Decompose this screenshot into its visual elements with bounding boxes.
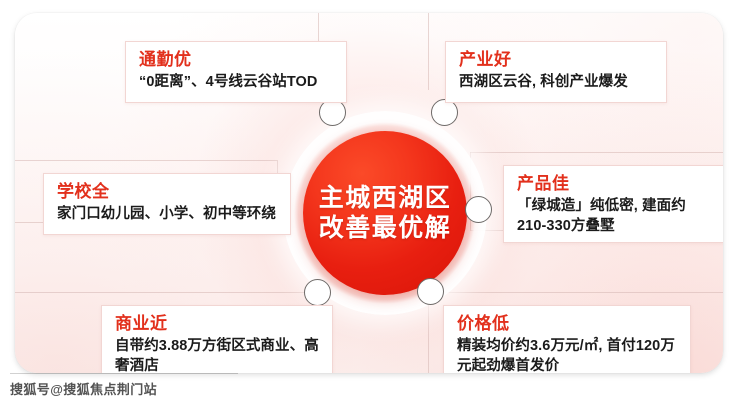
connector-line-left-upper bbox=[15, 160, 277, 161]
connector-node-product bbox=[465, 196, 492, 223]
watermark-text: 搜狐号@搜狐焦点荆门站 bbox=[10, 379, 157, 398]
info-box-business[interactable]: 商业近 自带约3.88万方街区式商业、高奢酒店 bbox=[101, 305, 333, 373]
info-box-school-body: 家门口幼儿园、小学、初中等环绕 bbox=[57, 205, 279, 225]
info-box-price[interactable]: 价格低 精装均价约3.6万元/㎡, 首付120万元起劲爆首发价 bbox=[443, 305, 691, 373]
connector-node-commute bbox=[319, 99, 346, 126]
connector-line-vertical-industry bbox=[428, 13, 429, 90]
info-box-commute[interactable]: 通勤优 “0距离”、4号线云谷站TOD bbox=[125, 41, 347, 103]
watermark-rule bbox=[10, 373, 238, 374]
info-box-product-body: 「绿城造」纯低密, 建面约210-330方叠墅 bbox=[517, 197, 713, 236]
info-box-industry[interactable]: 产业好 西湖区云谷, 科创产业爆发 bbox=[445, 41, 667, 103]
connector-line-right-upper bbox=[470, 152, 723, 153]
info-box-commute-body: “0距离”、4号线云谷站TOD bbox=[139, 73, 335, 93]
info-box-industry-body: 西湖区云谷, 科创产业爆发 bbox=[459, 73, 655, 93]
connector-node-business bbox=[304, 279, 331, 306]
info-box-school-title: 学校全 bbox=[57, 181, 279, 203]
info-box-price-title: 价格低 bbox=[457, 313, 679, 335]
connector-node-industry bbox=[431, 99, 458, 126]
info-box-product-title: 产品佳 bbox=[517, 173, 713, 195]
infographic-card: 主城西湖区 改善最优解 通勤优 “0距离”、4号线云谷站TOD 产业好 西湖区云… bbox=[15, 13, 723, 373]
connector-node-price bbox=[417, 278, 444, 305]
info-box-price-body: 精装均价约3.6万元/㎡, 首付120万元起劲爆首发价 bbox=[457, 337, 679, 373]
info-box-business-body: 自带约3.88万方街区式商业、高奢酒店 bbox=[115, 337, 321, 373]
infographic-canvas: 主城西湖区 改善最优解 通勤优 “0距离”、4号线云谷站TOD 产业好 西湖区云… bbox=[0, 0, 740, 408]
info-box-industry-title: 产业好 bbox=[459, 49, 655, 71]
info-box-school[interactable]: 学校全 家门口幼儿园、小学、初中等环绕 bbox=[43, 173, 291, 235]
center-emblem: 主城西湖区 改善最优解 bbox=[303, 131, 467, 295]
center-title-line-1: 主城西湖区 bbox=[319, 183, 452, 214]
info-box-product[interactable]: 产品佳 「绿城造」纯低密, 建面约210-330方叠墅 bbox=[503, 165, 723, 243]
connector-line-bottom-right bbox=[428, 292, 723, 293]
connector-line-bottom-left bbox=[15, 292, 320, 293]
info-box-business-title: 商业近 bbox=[115, 313, 321, 335]
center-title-line-2: 改善最优解 bbox=[319, 213, 452, 244]
info-box-commute-title: 通勤优 bbox=[139, 49, 335, 71]
